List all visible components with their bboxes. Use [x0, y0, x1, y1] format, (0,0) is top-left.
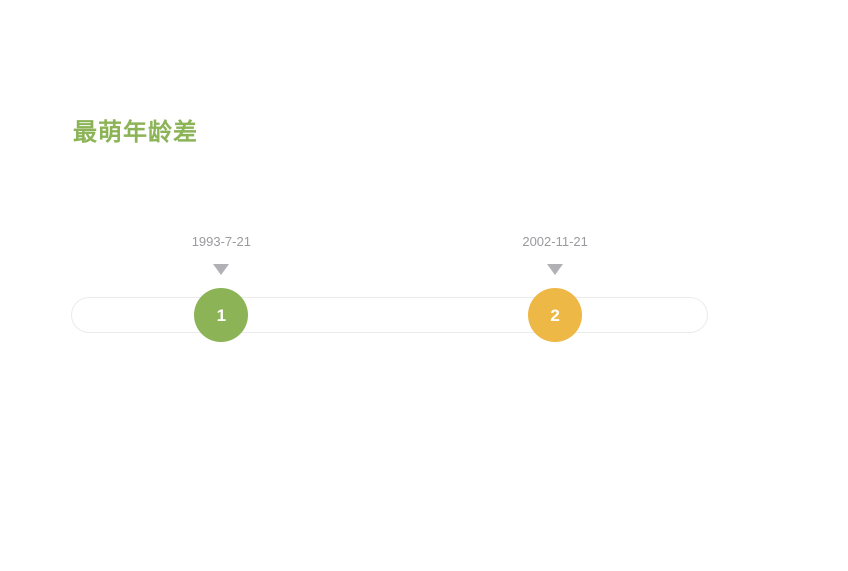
triangle-down-icon: [547, 264, 563, 275]
timeline-track[interactable]: [71, 297, 708, 333]
page-title: 最萌年龄差: [73, 117, 198, 149]
event-date-label: 1993-7-21: [192, 234, 251, 250]
event-node-1[interactable]: 1: [194, 288, 248, 342]
triangle-down-icon: [213, 264, 229, 275]
timeline-widget: 1993-7-21 1 2002-11-21 2: [71, 225, 708, 345]
event-node-2[interactable]: 2: [528, 288, 582, 342]
timeline-page: 最萌年龄差 1993-7-21 1 2002-11-21 2: [0, 0, 848, 571]
event-date-label: 2002-11-21: [522, 234, 588, 250]
